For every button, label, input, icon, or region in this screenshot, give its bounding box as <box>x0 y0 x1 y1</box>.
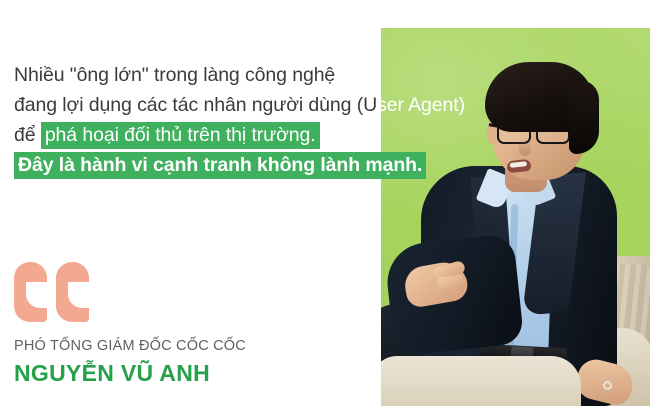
quote-line-1: Nhiều "ông lớn" trong làng công nghệ <box>14 60 474 90</box>
quote-line-2: đang lợi dụng các tác nhân người dùng (U… <box>14 90 474 120</box>
quote-segment: Đây là hành vi cạnh tranh không lành mạn… <box>14 152 426 179</box>
quote-segment: Nhiều "ông lớn" trong làng công nghệ <box>14 64 335 86</box>
quote-segment: ser Agent) <box>377 94 465 116</box>
speaker-ring <box>603 381 612 390</box>
quote-line-4: Đây là hành vi cạnh tranh không lành mạn… <box>14 150 474 180</box>
speaker-hair <box>485 62 595 132</box>
couch-seat-cushion <box>381 356 581 406</box>
quote-line-3: để phá hoại đối thủ trên thị trường. <box>14 120 474 150</box>
attribution-block: PHÓ TỔNG GIÁM ĐỐC CỐC CỐC NGUYỄN VŨ ANH <box>14 336 246 388</box>
quote-segment: để <box>14 124 41 146</box>
speaker-name: NGUYỄN VŨ ANH <box>14 358 246 388</box>
quote-glyph-right <box>56 262 89 322</box>
quote-text-block: Nhiều "ông lớn" trong làng công nghệ đan… <box>14 60 474 180</box>
quote-segment: đang lợi dụng các tác nhân người dùng (U <box>14 94 377 116</box>
quote-card: Nhiều "ông lớn" trong làng công nghệ đan… <box>0 0 650 406</box>
opening-double-quote-icon <box>14 262 89 322</box>
quote-glyph-left <box>14 262 47 322</box>
speaker-role: PHÓ TỔNG GIÁM ĐỐC CỐC CỐC <box>14 336 246 356</box>
speaker-nose <box>519 140 531 156</box>
quote-segment: phá hoại đối thủ trên thị trường. <box>41 122 320 149</box>
